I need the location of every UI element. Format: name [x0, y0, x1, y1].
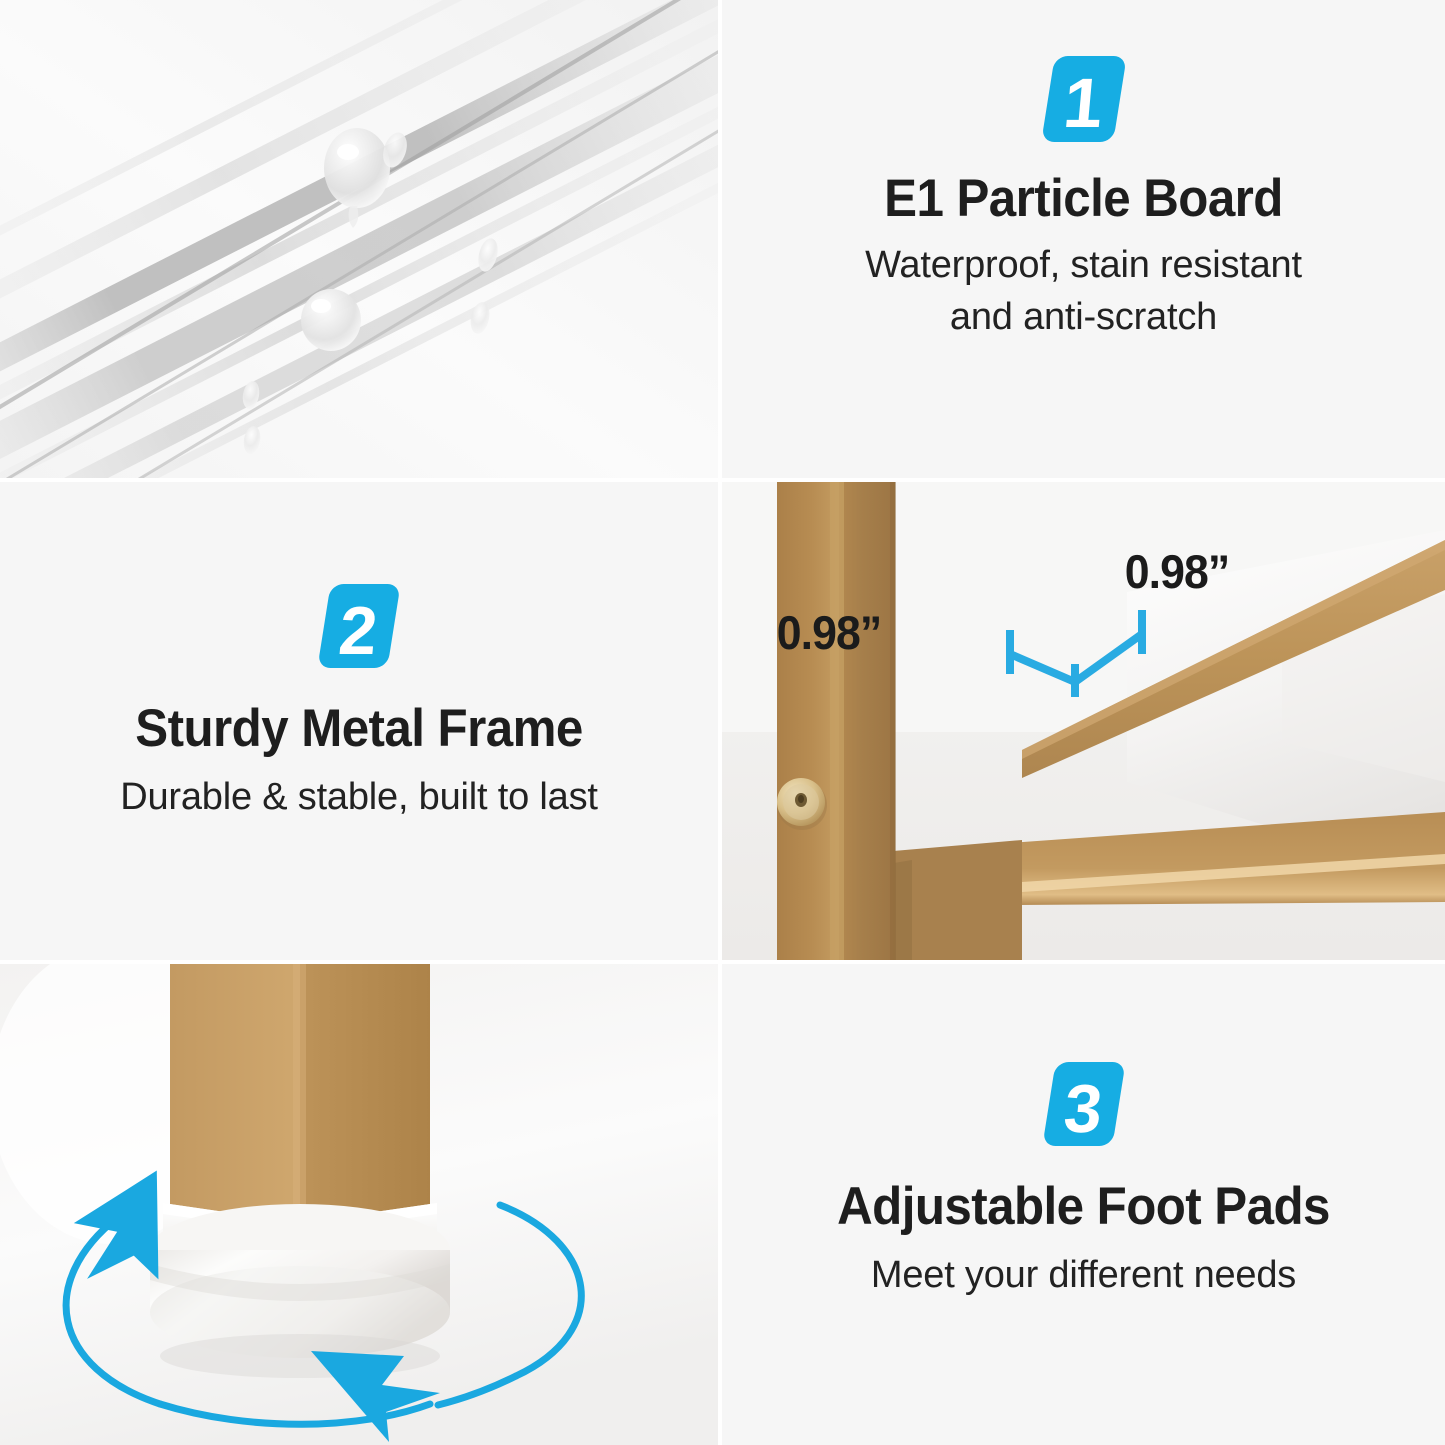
feature-1-subtitle-line1: Waterproof, stain resistant [722, 239, 1445, 291]
marble-illustration [0, 0, 718, 478]
leg-corner-highlight [830, 482, 844, 960]
badge-number-1: 1 [1044, 68, 1122, 138]
dimension-label-left: 0.98” [777, 605, 881, 660]
marble-surface-image [0, 0, 718, 478]
product-feature-infographic: 1 E1 Particle Board Waterproof, stain re… [0, 0, 1445, 1445]
feature-2-text-panel: 2 Sturdy Metal Frame Durable & stable, b… [0, 482, 718, 960]
feature-1-subtitle-line2: and anti-scratch [722, 291, 1445, 343]
feature-3-text-panel: 3 Adjustable Foot Pads Meet your differe… [722, 964, 1445, 1445]
leg-face-left [170, 964, 300, 1232]
feature-3-subtitle: Meet your different needs [722, 1249, 1445, 1301]
feature-1-text-panel: 1 E1 Particle Board Waterproof, stain re… [722, 0, 1445, 478]
metal-frame-image: 0.98” 0.98” [722, 482, 1445, 960]
feature-2-title: Sturdy Metal Frame [25, 698, 693, 759]
feature-1-title: E1 Particle Board [747, 168, 1419, 229]
feature-3-title: Adjustable Foot Pads [747, 1176, 1419, 1237]
badge-number-2: 2 [320, 597, 396, 665]
feature-2-block: 2 Sturdy Metal Frame Durable & stable, b… [0, 584, 718, 823]
metal-frame-illustration [722, 482, 1445, 960]
feature-1-subtitle: Waterproof, stain resistant and anti-scr… [722, 239, 1445, 344]
feature-3-block: 3 Adjustable Foot Pads Meet your differe… [722, 1062, 1445, 1301]
leg-face-left [777, 482, 839, 960]
step-number-badge-2: 2 [317, 584, 400, 668]
foot-pad-image [0, 964, 718, 1445]
foot-pad-illustration [0, 964, 718, 1445]
step-number-badge-3: 3 [1042, 1062, 1125, 1146]
feature-1-block: 1 E1 Particle Board Waterproof, stain re… [722, 56, 1445, 344]
leg-face-right [839, 482, 895, 960]
dimension-label-right: 0.98” [1125, 544, 1229, 599]
badge-number-3: 3 [1045, 1075, 1121, 1143]
step-number-badge-1: 1 [1041, 56, 1127, 142]
leg-face-right [300, 964, 430, 1232]
feature-2-subtitle: Durable & stable, built to last [0, 771, 718, 823]
